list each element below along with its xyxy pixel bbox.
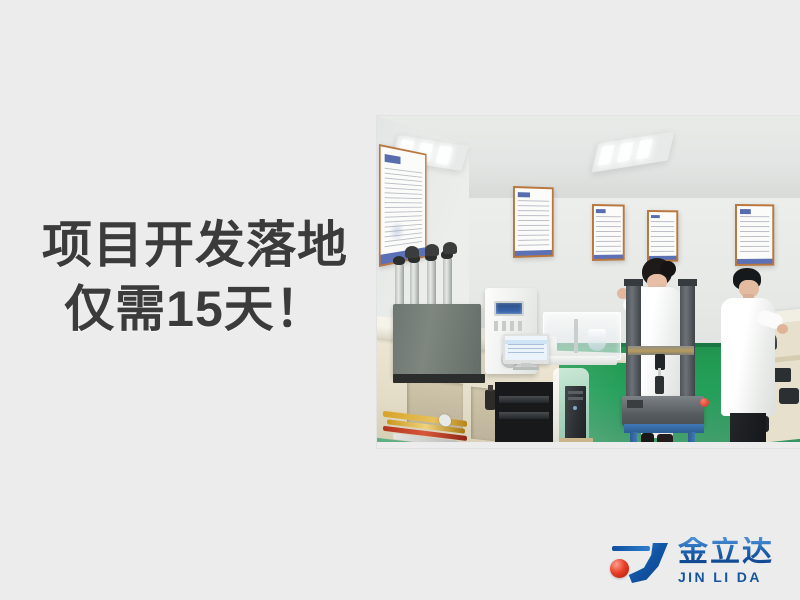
certificate-header bbox=[596, 209, 605, 213]
cart-leg bbox=[547, 424, 551, 444]
slide-canvas: 项目开发落地 仅需15天！ bbox=[0, 0, 800, 600]
logo-bar bbox=[612, 546, 650, 551]
certificate-footer bbox=[515, 250, 552, 256]
certificate-footer bbox=[737, 259, 772, 264]
machine-panel bbox=[627, 400, 643, 408]
condenser-head bbox=[443, 242, 457, 254]
light-tube bbox=[636, 139, 652, 160]
instrument-column bbox=[427, 260, 436, 308]
logo-red-sphere-icon bbox=[610, 559, 629, 578]
glass-stand bbox=[574, 319, 578, 353]
drive-bay bbox=[568, 397, 583, 400]
lab-photo bbox=[377, 116, 800, 448]
brand-name-cn: 金立达 bbox=[678, 537, 774, 567]
condenser-head bbox=[425, 244, 439, 256]
power-led bbox=[573, 406, 577, 410]
certificate-header bbox=[651, 215, 660, 218]
monitor-screen bbox=[505, 336, 547, 360]
certificate-header bbox=[518, 192, 530, 197]
cart-leg bbox=[497, 424, 501, 444]
certificate-text-lines bbox=[518, 200, 549, 246]
brand-logo: 金立达 JIN LI DA bbox=[608, 532, 784, 588]
oil-analyzer-instrument bbox=[393, 304, 481, 376]
equipment-cart bbox=[495, 366, 553, 444]
column-cap bbox=[678, 279, 697, 286]
cart-shelf bbox=[499, 396, 549, 403]
computer-monitor bbox=[503, 334, 549, 370]
page-title: 项目开发落地 仅需15天！ bbox=[30, 216, 360, 338]
wall-certificate-frame bbox=[379, 144, 426, 267]
headline-line-1: 项目开发落地 bbox=[30, 216, 360, 274]
wall-certificate-frame bbox=[592, 204, 625, 261]
pc-tower bbox=[565, 386, 586, 440]
brand-wordmark: 金立达 JIN LI DA bbox=[678, 537, 774, 584]
headline-line-2: 仅需15天！ bbox=[30, 280, 360, 338]
certificate-seal bbox=[389, 221, 405, 243]
instrument-column bbox=[443, 258, 452, 308]
glassware-rack bbox=[543, 312, 621, 360]
male-technician bbox=[717, 268, 783, 448]
wall-certificate-frame bbox=[735, 204, 774, 266]
wall-certificate-frame bbox=[513, 186, 554, 258]
certificate-header bbox=[385, 154, 400, 164]
cart-shelf bbox=[499, 412, 549, 419]
certificate-text-lines bbox=[651, 221, 674, 254]
certificate-header bbox=[740, 210, 751, 214]
universal-testing-machine bbox=[622, 284, 712, 439]
button-row bbox=[494, 321, 524, 331]
jinlida-swoosh-mark-icon bbox=[608, 537, 670, 583]
precision-balance bbox=[547, 356, 617, 365]
condenser-head bbox=[405, 246, 419, 258]
instrument-knob bbox=[393, 256, 405, 265]
machine-column bbox=[680, 284, 695, 402]
brand-name-en: JIN LI DA bbox=[678, 570, 774, 584]
drive-bay bbox=[568, 391, 583, 394]
lower-grip bbox=[655, 376, 664, 394]
machine-base bbox=[622, 396, 704, 426]
hand bbox=[777, 324, 788, 334]
wall-certificate-frame bbox=[647, 210, 678, 262]
machine-column bbox=[626, 284, 641, 402]
lcd-display bbox=[494, 301, 524, 316]
instrument-column bbox=[410, 262, 419, 308]
flask bbox=[588, 329, 606, 351]
certificate-text-lines bbox=[740, 216, 770, 255]
instrument-column bbox=[395, 264, 404, 308]
column-cap bbox=[624, 279, 643, 286]
light-tube bbox=[617, 142, 633, 163]
emergency-stop-button[interactable] bbox=[700, 398, 709, 407]
light-tube bbox=[436, 146, 452, 165]
light-tube bbox=[598, 145, 614, 166]
certificate-footer bbox=[594, 254, 623, 259]
certificate-text-lines bbox=[596, 216, 620, 252]
monitor-base bbox=[513, 367, 539, 370]
photo-bottom-edge bbox=[377, 442, 800, 448]
